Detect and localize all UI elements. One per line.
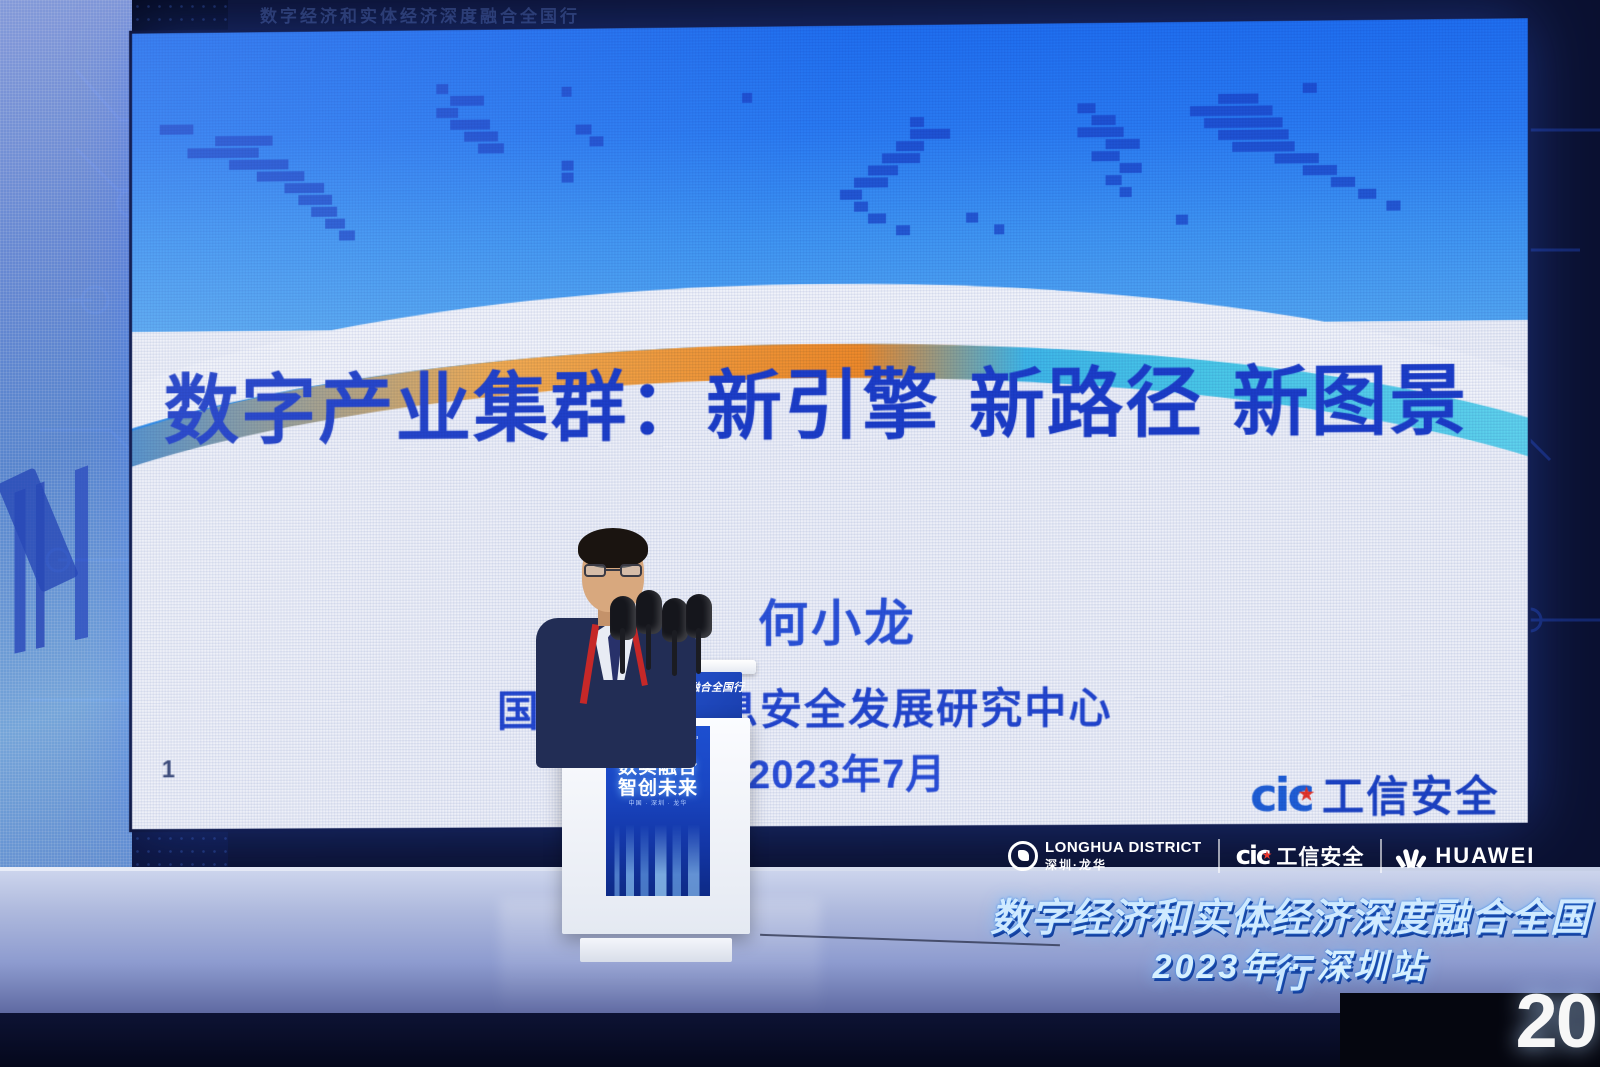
banner-divider-1	[1218, 839, 1220, 873]
huawei-name: HUAWEI	[1435, 843, 1535, 869]
longhua-name: LONGHUA DISTRICT	[1045, 839, 1202, 856]
sponsor-cic: cic★ 工信安全	[1236, 841, 1365, 871]
podium-base	[580, 938, 732, 962]
event-banner: LONGHUA DISTRICT 深圳·龙华 cic★ 工信安全 HUAWEI	[980, 839, 1600, 1039]
banner-cic-star-icon: ★	[1262, 848, 1271, 862]
podium-subline: 中国 · 深圳 · 龙华	[606, 798, 710, 807]
banner-subtitle: 2023年 · 深圳站	[980, 939, 1600, 988]
podium-city-skyline-graphic	[606, 824, 710, 896]
glasses-icon	[584, 564, 642, 577]
banner-sponsor-logos: LONGHUA DISTRICT 深圳·龙华 cic★ 工信安全 HUAWEI	[1008, 839, 1535, 873]
conference-stage-photo: 数字经济和实体经济深度融合全国行	[0, 0, 1600, 1067]
cic-chinese-text: 工信安全	[1322, 763, 1500, 825]
microphone-cluster	[610, 588, 720, 678]
slide-date: 2023年7月	[748, 741, 946, 800]
world-map-dot-graphic	[132, 58, 1528, 307]
left-led-panel	[0, 0, 132, 1000]
cic-banner-chinese: 工信安全	[1276, 841, 1364, 871]
cic-mark-text: cic★	[1250, 767, 1312, 821]
longhua-chinese: 深圳·龙华	[1045, 856, 1202, 873]
microphone-stem-1	[620, 628, 625, 674]
huawei-petal-icon	[1398, 844, 1428, 868]
cic-star-icon: ★	[1297, 781, 1312, 805]
slide-main-title: 数字产业集群：新引擎 新路径 新图景	[164, 362, 1504, 449]
microphone-stem-4	[696, 628, 701, 674]
speaker-hair	[578, 528, 648, 568]
sponsor-huawei: HUAWEI	[1398, 843, 1535, 869]
banner-divider-2	[1380, 839, 1382, 873]
sponsor-longhua: LONGHUA DISTRICT 深圳·龙华	[1008, 839, 1202, 873]
banner-corner-number: 20	[1515, 978, 1596, 1065]
slide-page-number: 1	[162, 756, 175, 784]
main-led-screen: 数字产业集群：新引擎 新路径 新图景 何小龙 国家工业信息安全发展研究中心 20…	[132, 18, 1528, 829]
microphone-stem-2	[646, 624, 651, 670]
podium-headline-line2: 智创未来	[606, 773, 710, 800]
longhua-ring-icon	[1008, 841, 1038, 871]
slide-speaker-name: 何小龙	[758, 583, 917, 656]
microphone-stem-3	[672, 630, 677, 676]
cic-logo-icon: cic★	[1236, 841, 1270, 871]
slide-cic-logo: cic★ 工信安全	[1250, 763, 1499, 825]
venue-top-text: 数字经济和实体经济深度融合全国行	[260, 2, 920, 24]
